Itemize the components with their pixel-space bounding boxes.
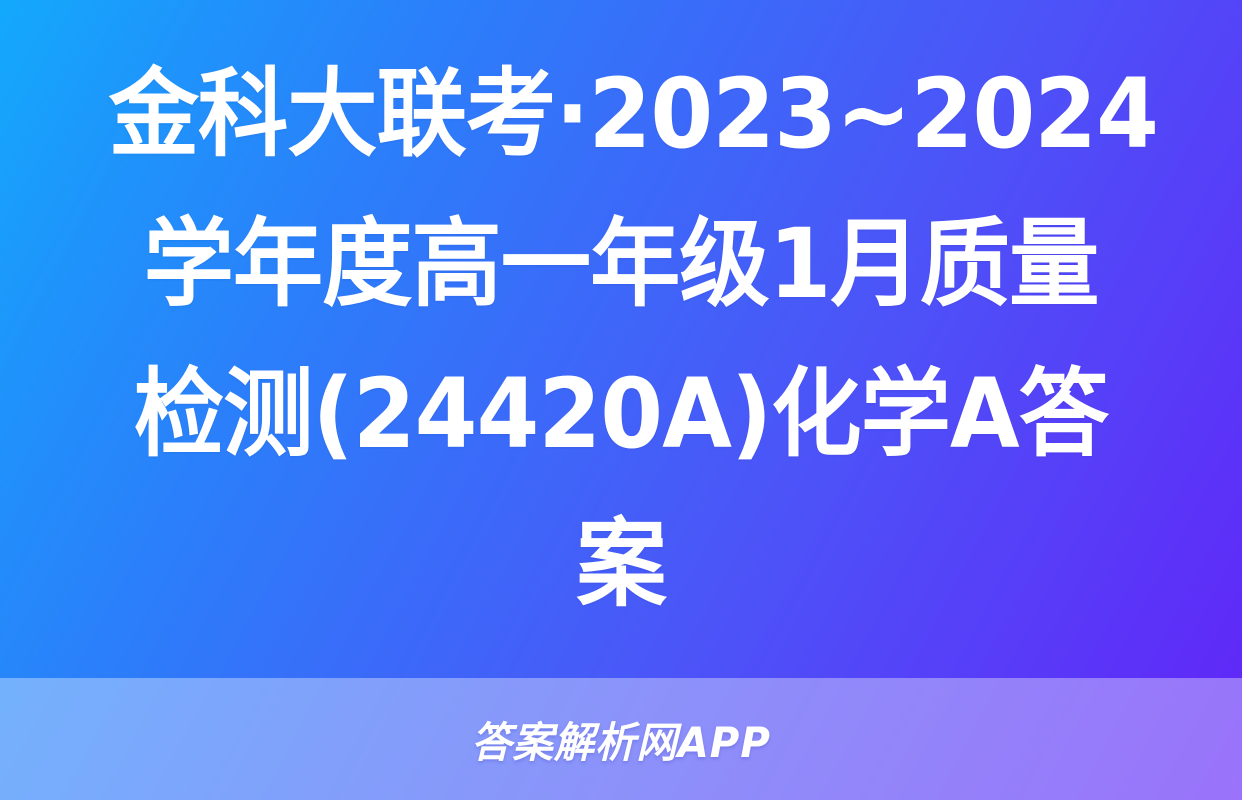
cover-title-line-1: 金科大联考·2023~2024 xyxy=(109,39,1134,189)
footer-watermark-bar: 答案解析网APP xyxy=(0,678,1242,800)
cover-title-line-3: 检测(24420A)化学A答 xyxy=(109,339,1134,489)
cover-title-line-4: 案 xyxy=(109,489,1134,639)
exam-answer-cover-card: 金科大联考·2023~2024 学年度高一年级1月质量 检测(24420A)化学… xyxy=(0,0,1242,800)
cover-title-block: 金科大联考·2023~2024 学年度高一年级1月质量 检测(24420A)化学… xyxy=(0,0,1242,678)
cover-title-line-2: 学年度高一年级1月质量 xyxy=(109,189,1134,339)
footer-watermark-text: 答案解析网APP xyxy=(471,709,771,770)
